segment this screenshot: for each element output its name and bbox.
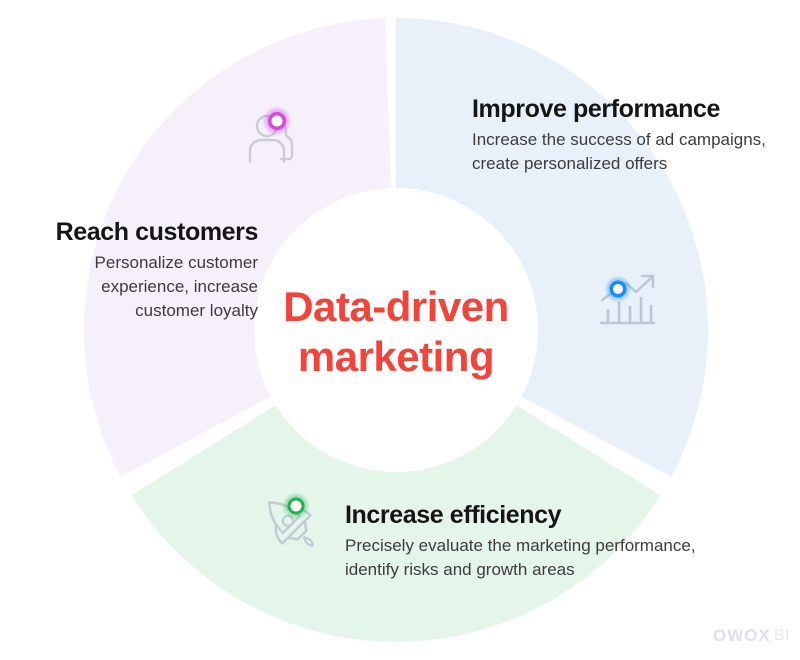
center-title: Data-driven marketing — [256, 282, 536, 382]
segment-text-increase-efficiency: Increase efficiency Precisely evaluate t… — [345, 500, 745, 582]
watermark-brand: OWOX — [713, 626, 771, 646]
owox-bi-watermark: OWOX BI — [690, 625, 790, 647]
improve-performance-description: Increase the success of ad campaigns, cr… — [472, 128, 800, 176]
infographic-canvas: Data-driven marketing Improve performanc… — [0, 0, 800, 660]
reach-customers-description: Personalize customer experience, increas… — [8, 251, 258, 323]
reach-customers-title: Reach customers — [8, 217, 258, 247]
growth-chart-icon — [596, 270, 660, 334]
watermark-product: BI — [774, 627, 790, 645]
segment-text-improve-performance: Improve performance Increase the success… — [472, 94, 800, 176]
increase-efficiency-title: Increase efficiency — [345, 500, 745, 530]
segment-text-reach-customers: Reach customers Personalize customer exp… — [8, 217, 258, 323]
rocket-icon — [255, 488, 325, 558]
people-icon — [243, 100, 307, 170]
increase-efficiency-description: Precisely evaluate the marketing perform… — [345, 534, 745, 582]
improve-performance-title: Improve performance — [472, 94, 800, 124]
